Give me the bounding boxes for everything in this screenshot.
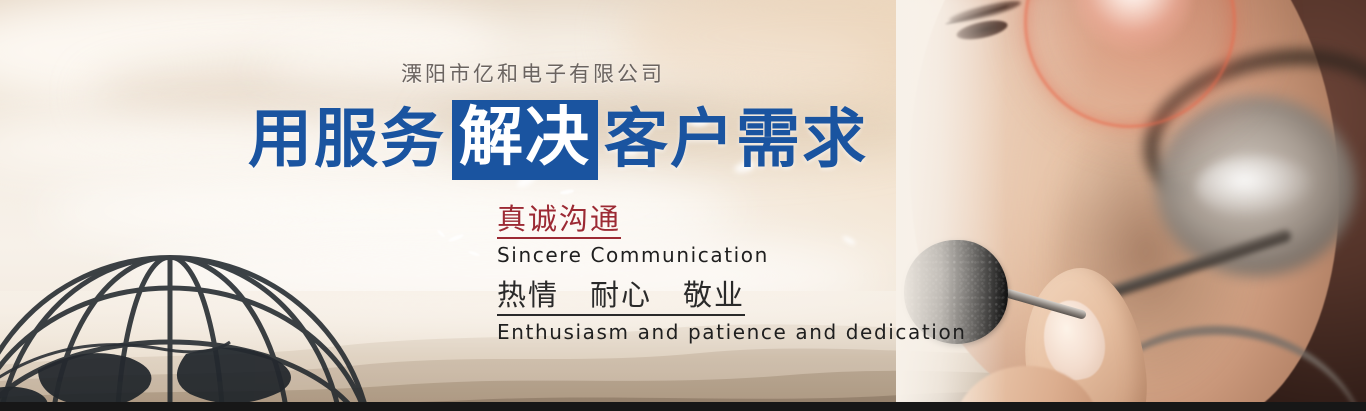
- tagline-group: 真诚沟通 Sincere Communication 热情 耐心 敬业 Enth…: [497, 203, 967, 344]
- headline-before: 用服务: [248, 108, 446, 172]
- tagline-en-sincere: Sincere Communication: [497, 243, 967, 267]
- headline-highlight: 解决: [452, 100, 598, 180]
- tagline-row-2: 热情 耐心 敬业 Enthusiasm and patience and ded…: [497, 267, 967, 343]
- hero-banner: 溧阳市亿和电子有限公司 用服务 解决 客户需求 真诚沟通 Sincere Com…: [0, 0, 1366, 411]
- headline-after: 客户需求: [604, 108, 868, 172]
- bottom-bar: [0, 402, 1366, 411]
- headline: 用服务 解决 客户需求: [248, 100, 868, 180]
- earpiece-highlight: [1196, 155, 1316, 219]
- company-name: 溧阳市亿和电子有限公司: [0, 58, 1366, 88]
- tagline-cn-sincere: 真诚沟通: [497, 203, 621, 239]
- tagline-en-enthusiasm: Enthusiasm and patience and dedication: [497, 320, 967, 344]
- wireframe-globe-icon: [0, 250, 490, 411]
- tagline-cn-enthusiasm: 热情 耐心 敬业: [497, 279, 745, 315]
- tagline-row-1: 真诚沟通 Sincere Communication: [497, 203, 967, 267]
